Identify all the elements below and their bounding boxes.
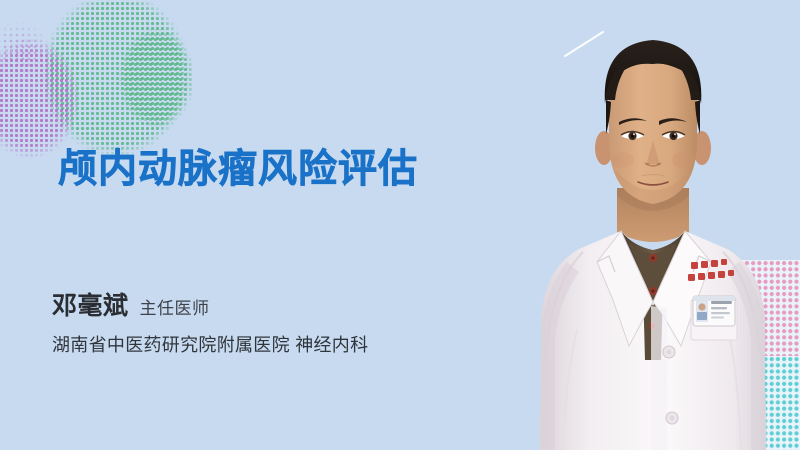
page-title: 颅内动脉瘤风险评估 bbox=[58, 150, 418, 189]
byline: 邓毫斌 主任医师 湖南省中医药研究院附属医院 神经内科 bbox=[52, 286, 368, 357]
doctor-name: 邓毫斌 bbox=[52, 286, 129, 322]
doctor-name-row: 邓毫斌 主任医师 bbox=[52, 286, 368, 322]
doctor-affiliation: 湖南省中医药研究院附属医院 神经内科 bbox=[52, 331, 368, 357]
doctor-portrait bbox=[505, 0, 800, 450]
slide-canvas: 颅内动脉瘤风险评估 邓毫斌 主任医师 湖南省中医药研究院附属医院 神经内科 bbox=[0, 0, 800, 450]
purple-halftone-speckle-icon bbox=[0, 14, 60, 74]
doctor-rank: 主任医师 bbox=[140, 294, 210, 319]
green-halftone-blob-secondary-icon bbox=[118, 22, 204, 134]
